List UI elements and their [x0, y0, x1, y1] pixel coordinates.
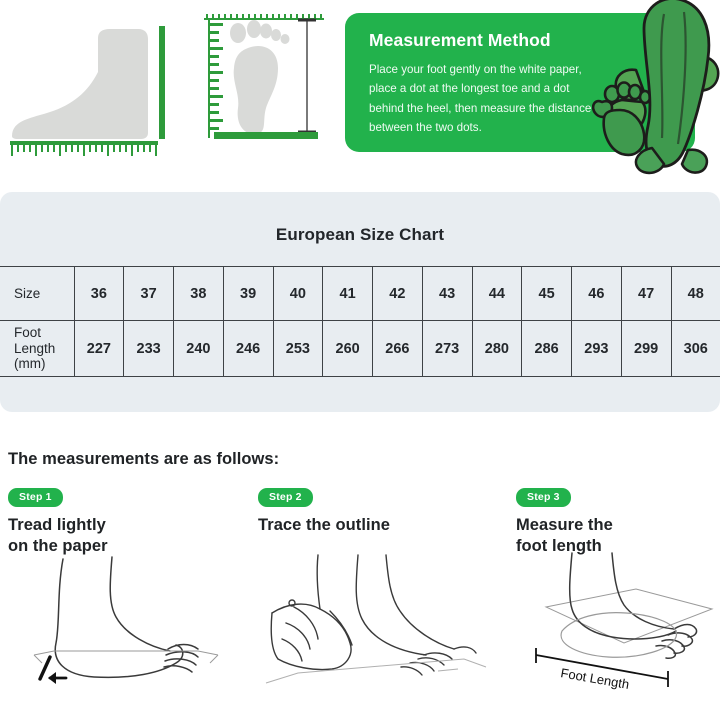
ruler-left [208, 20, 223, 138]
cell-length: 293 [572, 321, 622, 377]
card-title: Measurement Method [369, 30, 675, 51]
footprint-shape [230, 20, 290, 134]
cell-size: 40 [273, 267, 323, 321]
cell-size: 41 [323, 267, 373, 321]
cell-size: 46 [572, 267, 622, 321]
row-label-size: Size [0, 267, 74, 321]
cell-length: 266 [373, 321, 423, 377]
cell-length: 286 [522, 321, 572, 377]
cell-size: 36 [74, 267, 124, 321]
cell-length: 253 [273, 321, 323, 377]
size-guide-page: Measurement Method Place your foot gentl… [0, 0, 720, 709]
ruler-vertical [159, 26, 165, 139]
cell-length: 280 [472, 321, 522, 377]
cell-size: 48 [671, 267, 720, 321]
foot-length-label: Foot Length [559, 665, 630, 692]
size-chart-table: Size 36 37 38 39 40 41 42 43 44 45 46 47… [0, 266, 720, 377]
cell-size: 38 [174, 267, 224, 321]
cell-length: 306 [671, 321, 720, 377]
cell-length: 246 [223, 321, 273, 377]
step-1: Step 1 Tread lightlyon the paper [8, 487, 243, 556]
cell-size: 39 [223, 267, 273, 321]
step-3: Step 3 Measure thefoot length [516, 487, 720, 556]
cell-length: 260 [323, 321, 373, 377]
cell-length: 227 [74, 321, 124, 377]
ruler-horizontal [10, 141, 158, 156]
step-2-title: Trace the outline [258, 515, 493, 536]
hero-band: Measurement Method Place your foot gentl… [0, 0, 720, 180]
table-row-foot-length: FootLength(mm) 227 233 240 246 253 260 2… [0, 321, 720, 377]
cell-length: 273 [422, 321, 472, 377]
step-1-illustration-icon [8, 551, 243, 701]
measure-line [298, 20, 316, 132]
step-2-illustration-icon [258, 551, 493, 701]
step-2: Step 2 Trace the outline [258, 487, 493, 536]
cell-length: 233 [124, 321, 174, 377]
steps-container: Step 1 Tread lightlyon the paper [0, 487, 720, 709]
card-body-text: Place your foot gently on the white pape… [369, 60, 597, 138]
arrow-icon [48, 672, 66, 684]
size-chart-title: European Size Chart [0, 192, 720, 245]
cell-length: 299 [621, 321, 671, 377]
foot-side-view-illustration [6, 8, 174, 168]
cell-size: 47 [621, 267, 671, 321]
cell-size: 37 [124, 267, 174, 321]
step-2-badge: Step 2 [258, 488, 313, 507]
cell-size: 45 [522, 267, 572, 321]
cell-size: 42 [373, 267, 423, 321]
cell-size: 43 [422, 267, 472, 321]
measurement-method-card: Measurement Method Place your foot gentl… [345, 13, 695, 152]
table-row-size: Size 36 37 38 39 40 41 42 43 44 45 46 47… [0, 267, 720, 321]
step-3-badge: Step 3 [516, 488, 571, 507]
ruler-bottom [214, 132, 318, 139]
step-1-badge: Step 1 [8, 488, 63, 507]
row-label-foot-length: FootLength(mm) [0, 321, 74, 377]
cell-size: 44 [472, 267, 522, 321]
size-chart-panel: European Size Chart Size 36 37 38 39 40 … [0, 192, 720, 412]
footprint-illustration [186, 6, 342, 168]
cell-length: 240 [174, 321, 224, 377]
step-3-illustration-icon: Foot Length [516, 551, 720, 701]
steps-heading: The measurements are as follows: [8, 450, 279, 469]
